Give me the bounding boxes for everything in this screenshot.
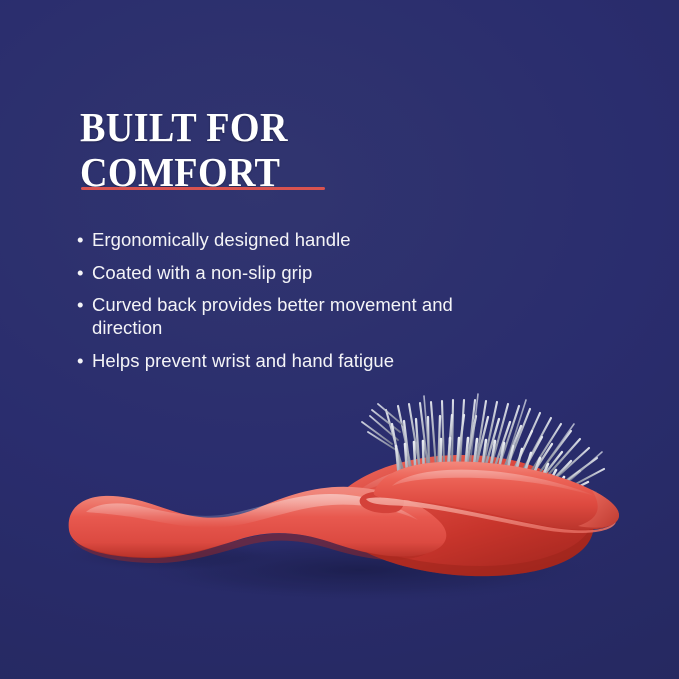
brush-handle-shade — [72, 533, 426, 563]
brush-body-highlight — [352, 462, 576, 496]
bullet-marker-icon: • — [77, 261, 84, 284]
bullet-marker-icon: • — [77, 228, 84, 251]
brush-handle-highlight — [86, 494, 418, 528]
brush-pin-pad-tail — [360, 492, 404, 513]
bullet-marker-icon: • — [77, 293, 84, 316]
promo-image: BUILT FOR COMFORT • Ergonomically design… — [0, 0, 679, 679]
list-item-label: Helps prevent wrist and hand fatigue — [92, 349, 497, 372]
list-item: • Curved back provides better movement a… — [77, 293, 497, 339]
list-item-label: Coated with a non-slip grip — [92, 261, 497, 284]
brush-pad-end-cap — [578, 490, 619, 528]
page-title: BUILT FOR COMFORT — [80, 105, 471, 195]
page-title-line-1: BUILT FOR — [80, 105, 471, 150]
accent-divider — [81, 187, 325, 190]
feature-bullet-list: • Ergonomically designed handle • Coated… — [77, 228, 497, 381]
brush-pins — [362, 394, 604, 506]
product-shadow — [110, 536, 610, 604]
brush-body-shade — [336, 520, 594, 576]
brush-handle — [69, 487, 447, 558]
brush-pin-pad-highlight — [392, 470, 598, 497]
list-item-label: Ergonomically designed handle — [92, 228, 497, 251]
list-item: • Coated with a non-slip grip — [77, 261, 497, 284]
product-shadow-handle — [55, 539, 295, 573]
brush-body — [326, 455, 593, 576]
list-item-label: Curved back provides better movement and… — [92, 293, 497, 339]
bullet-marker-icon: • — [77, 349, 84, 372]
brush-pin-pad — [374, 462, 619, 530]
list-item: • Ergonomically designed handle — [77, 228, 497, 251]
list-item: • Helps prevent wrist and hand fatigue — [77, 349, 497, 372]
brush-pin-pad-rim — [366, 498, 616, 534]
